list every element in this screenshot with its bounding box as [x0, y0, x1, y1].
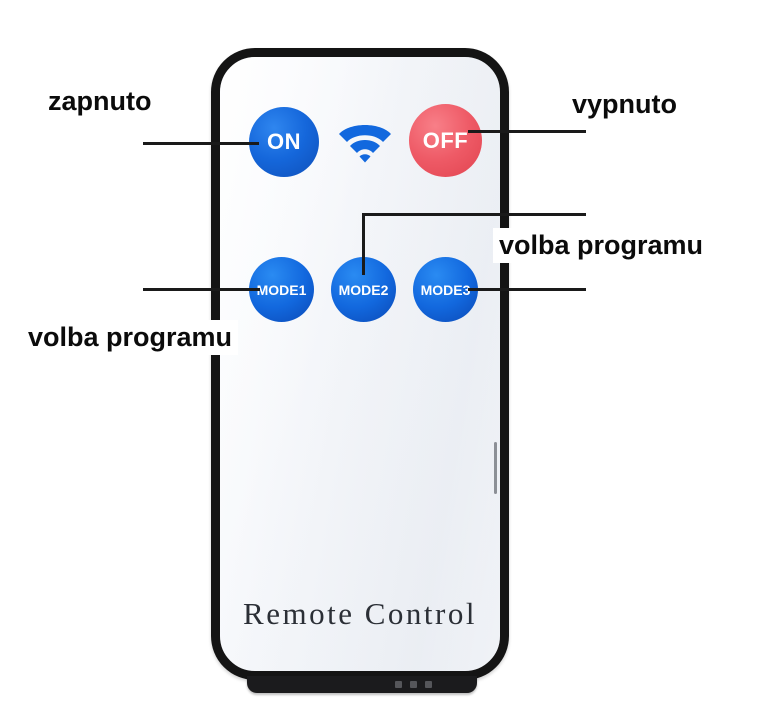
leader-line-vypnuto: [468, 130, 586, 133]
remote-base-strip: [247, 676, 477, 693]
wifi-icon: [336, 118, 394, 164]
annotation-vypnuto: vypnuto: [566, 87, 683, 122]
leader-line-mode1: [143, 288, 260, 291]
off-button-label: OFF: [423, 128, 469, 154]
off-button[interactable]: OFF: [409, 104, 482, 177]
mode2-button-label: MODE2: [339, 282, 389, 298]
annotated-remote-diagram: ON OFF MODE1 MODE2 MODE3 Remote Control …: [0, 0, 761, 717]
on-button[interactable]: ON: [249, 107, 319, 177]
annotation-volba-programu-mode2: volba programu: [493, 228, 709, 263]
on-button-label: ON: [267, 129, 301, 155]
base-notch-2: [410, 681, 417, 688]
leader-line-mode3: [468, 288, 586, 291]
base-notch-3: [425, 681, 432, 688]
annotation-volba-programu-mode1: volba programu: [22, 320, 238, 355]
brand-text: Remote Control: [211, 596, 509, 632]
body-seam-mark: [494, 442, 497, 494]
leader-line-zapnuto: [143, 142, 259, 145]
base-notch-1: [395, 681, 402, 688]
mode1-button-label: MODE1: [257, 282, 307, 298]
leader-line-mode2-horizontal: [362, 213, 586, 216]
annotation-zapnuto: zapnuto: [42, 84, 157, 119]
leader-line-mode2-vertical: [362, 213, 365, 275]
mode3-button-label: MODE3: [421, 282, 471, 298]
